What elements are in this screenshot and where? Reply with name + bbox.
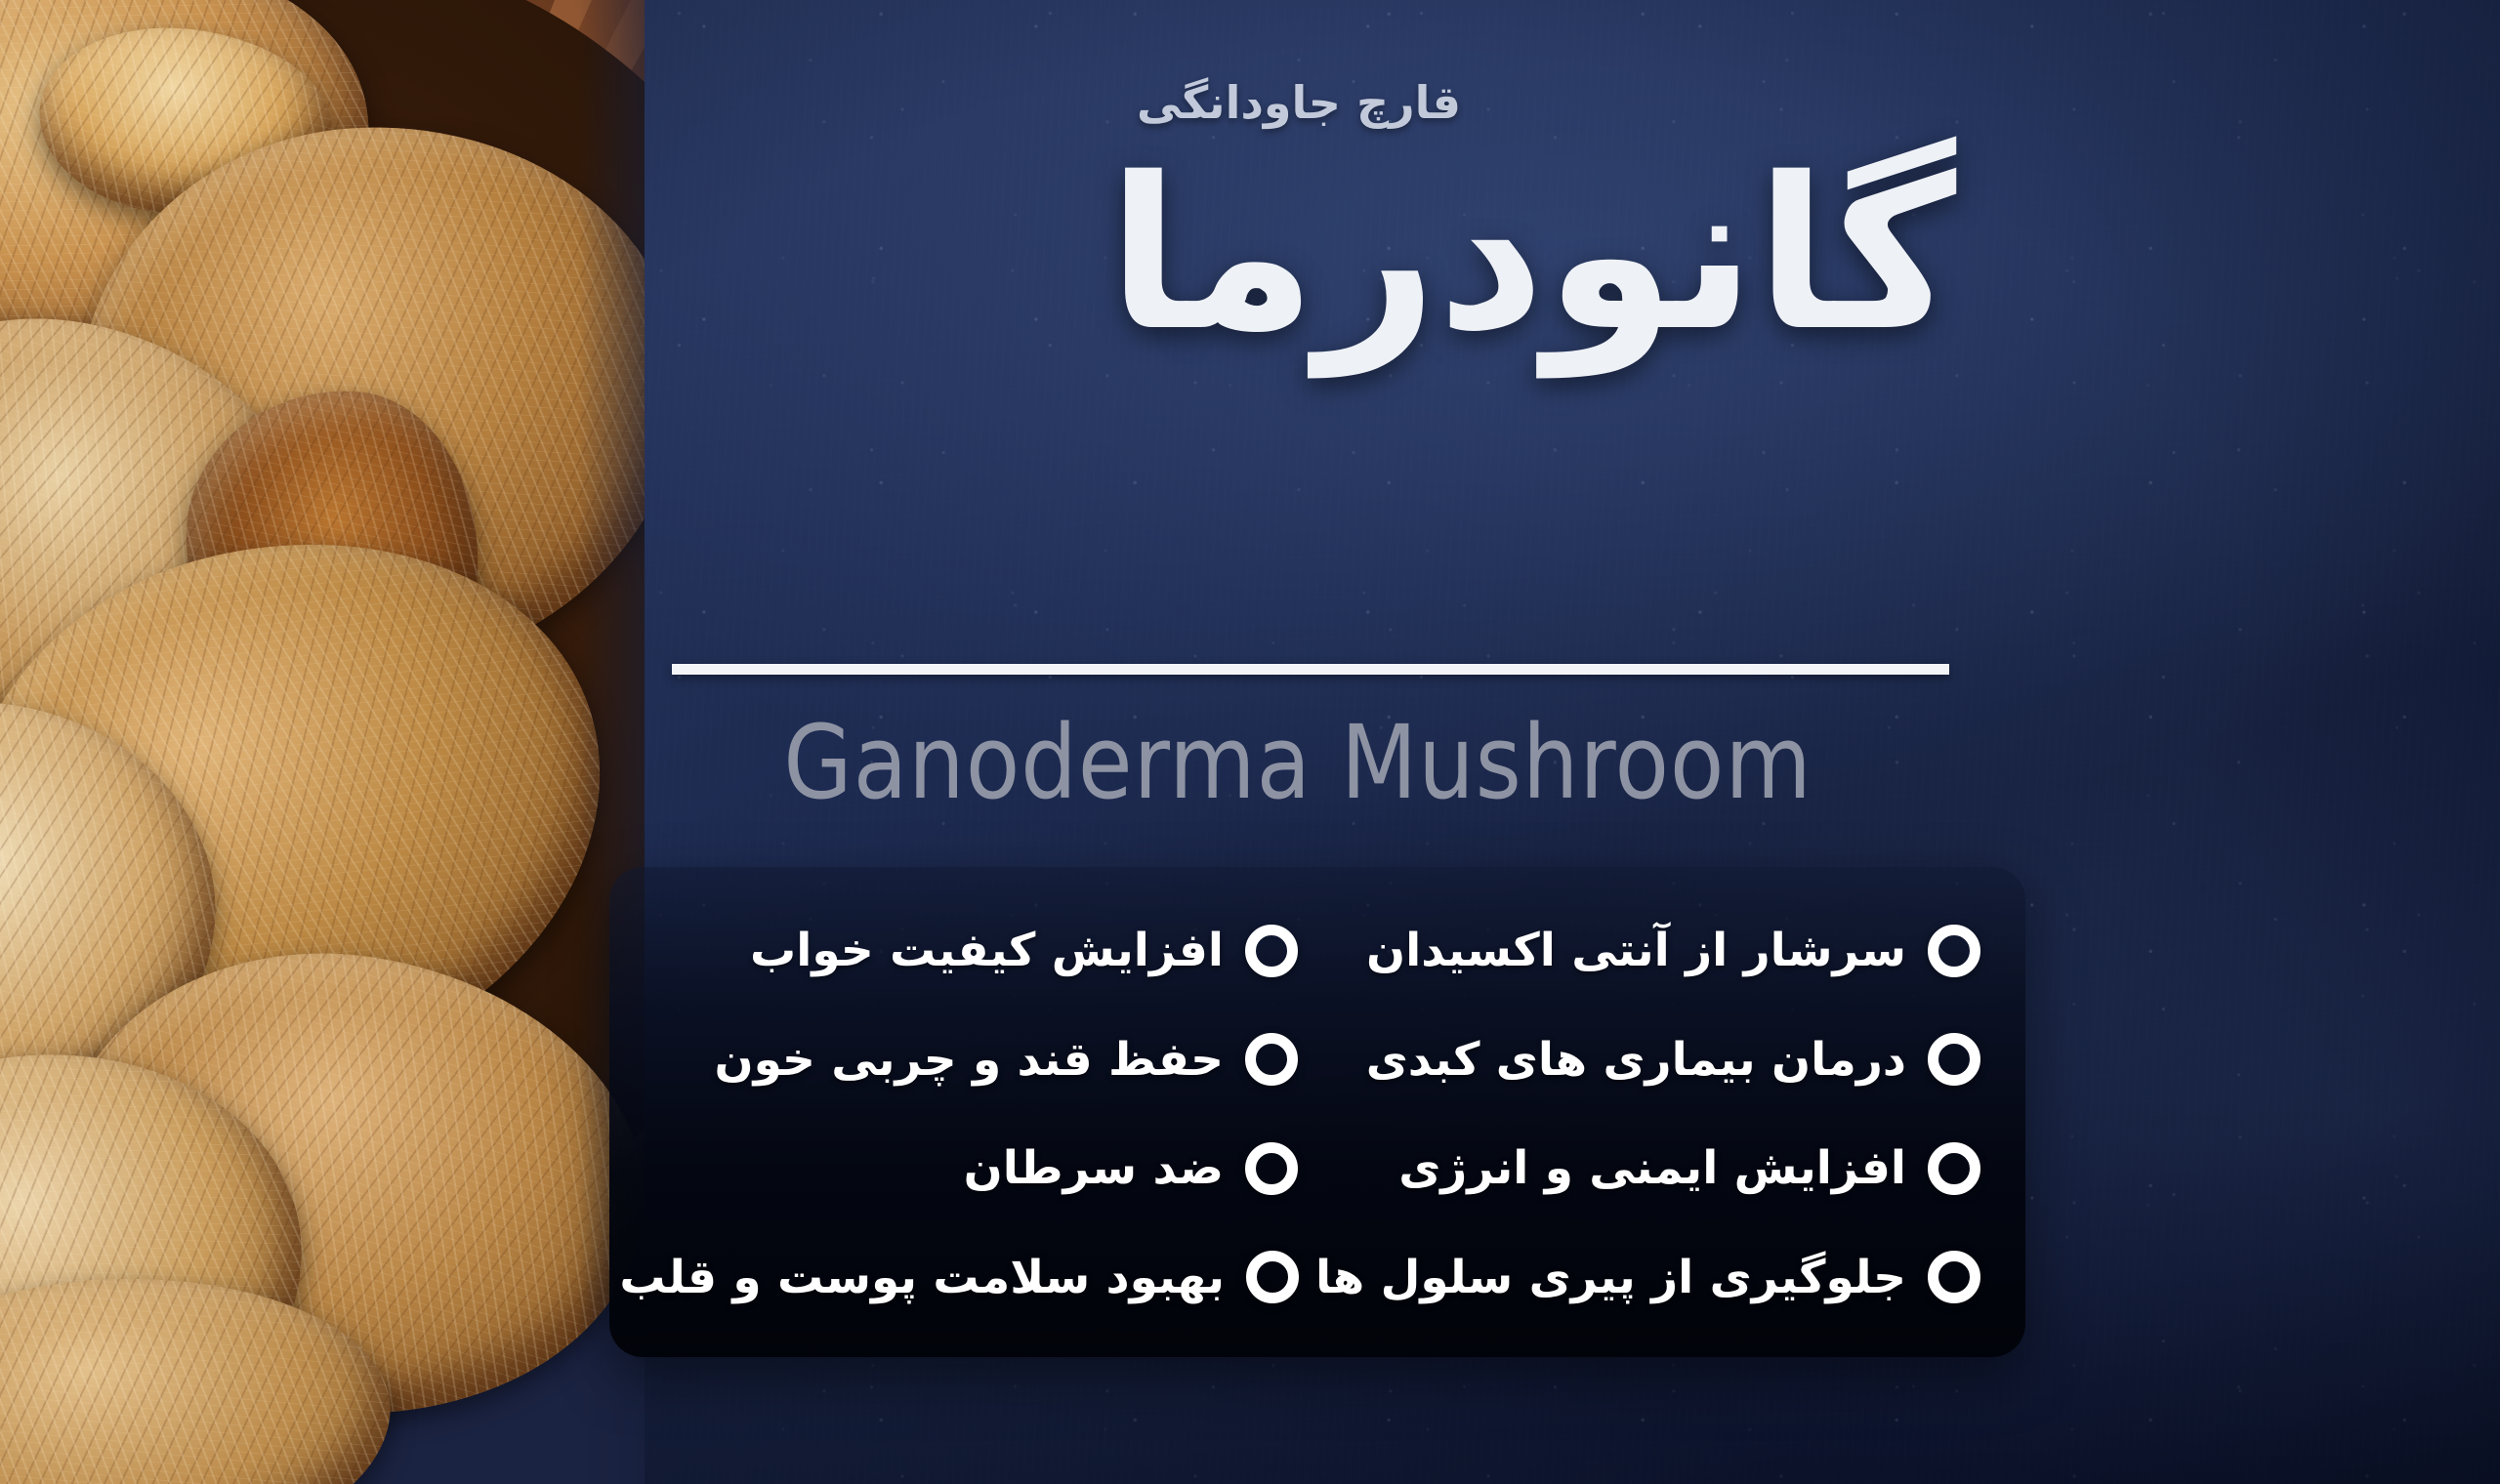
benefit-label: درمان بیماری های کبدی xyxy=(1366,1033,1906,1087)
subtitle-english: Ganoderma Mushroom xyxy=(668,703,1928,822)
benefit-item: حفظ قند و چربی خون xyxy=(654,1033,1298,1087)
benefit-label: افزایش کیفیت خواب xyxy=(750,924,1224,977)
benefits-panel: سرشار از آنتی اکسیدان افزایش کیفیت خواب … xyxy=(609,867,2025,1357)
ganoderma-promo-poster: قارچ جاودانگی گانودرما Ganoderma Mushroo… xyxy=(0,0,2500,1484)
benefit-label: بهبود سلامت پوست و قلب xyxy=(619,1251,1225,1304)
content-column: قارچ جاودانگی گانودرما Ganoderma Mushroo… xyxy=(645,0,2500,1484)
benefit-item: افزایش ایمنی و انرژی xyxy=(1298,1141,1980,1195)
benefit-item: درمان بیماری های کبدی xyxy=(1298,1033,1980,1087)
benefit-label: افزایش ایمنی و انرژی xyxy=(1398,1141,1906,1195)
product-photo xyxy=(0,0,645,1484)
bullet-ring-icon xyxy=(1928,1142,1980,1195)
kicker-text: قارچ جاودانگی xyxy=(1133,76,2406,129)
benefit-label: جلوگیری از پیری سلول ها xyxy=(1315,1251,1906,1304)
bullet-ring-icon xyxy=(1245,1142,1298,1195)
product-photo-inner xyxy=(0,0,645,1484)
benefit-label: ضد سرطان xyxy=(964,1141,1224,1195)
benefits-list: سرشار از آنتی اکسیدان افزایش کیفیت خواب … xyxy=(609,867,2025,1357)
bullet-ring-icon xyxy=(1245,925,1298,977)
benefit-label: حفظ قند و چربی خون xyxy=(714,1033,1224,1087)
benefit-item: افزایش کیفیت خواب xyxy=(654,924,1298,977)
benefit-row: سرشار از آنتی اکسیدان افزایش کیفیت خواب xyxy=(654,896,1980,1006)
benefit-row: درمان بیماری های کبدی حفظ قند و چربی خون xyxy=(654,1006,1980,1115)
bullet-ring-icon xyxy=(1928,1251,1980,1303)
title-divider xyxy=(672,664,1949,675)
benefit-item: بهبود سلامت پوست و قلب xyxy=(654,1251,1299,1304)
benefit-label: سرشار از آنتی اکسیدان xyxy=(1366,924,1906,977)
benefit-item: جلوگیری از پیری سلول ها xyxy=(1299,1251,1980,1304)
benefit-item: سرشار از آنتی اکسیدان xyxy=(1298,924,1980,977)
bullet-ring-icon xyxy=(1928,925,1980,977)
benefit-row: افزایش ایمنی و انرژی ضد سرطان xyxy=(654,1114,1980,1223)
bullet-ring-icon xyxy=(1928,1033,1980,1086)
bullet-ring-icon xyxy=(1246,1251,1299,1303)
bullet-ring-icon xyxy=(1245,1033,1298,1086)
benefit-row: جلوگیری از پیری سلول ها بهبود سلامت پوست… xyxy=(654,1223,1980,1333)
page-title: گانودرما xyxy=(1107,127,2406,383)
benefit-item: ضد سرطان xyxy=(654,1141,1298,1195)
